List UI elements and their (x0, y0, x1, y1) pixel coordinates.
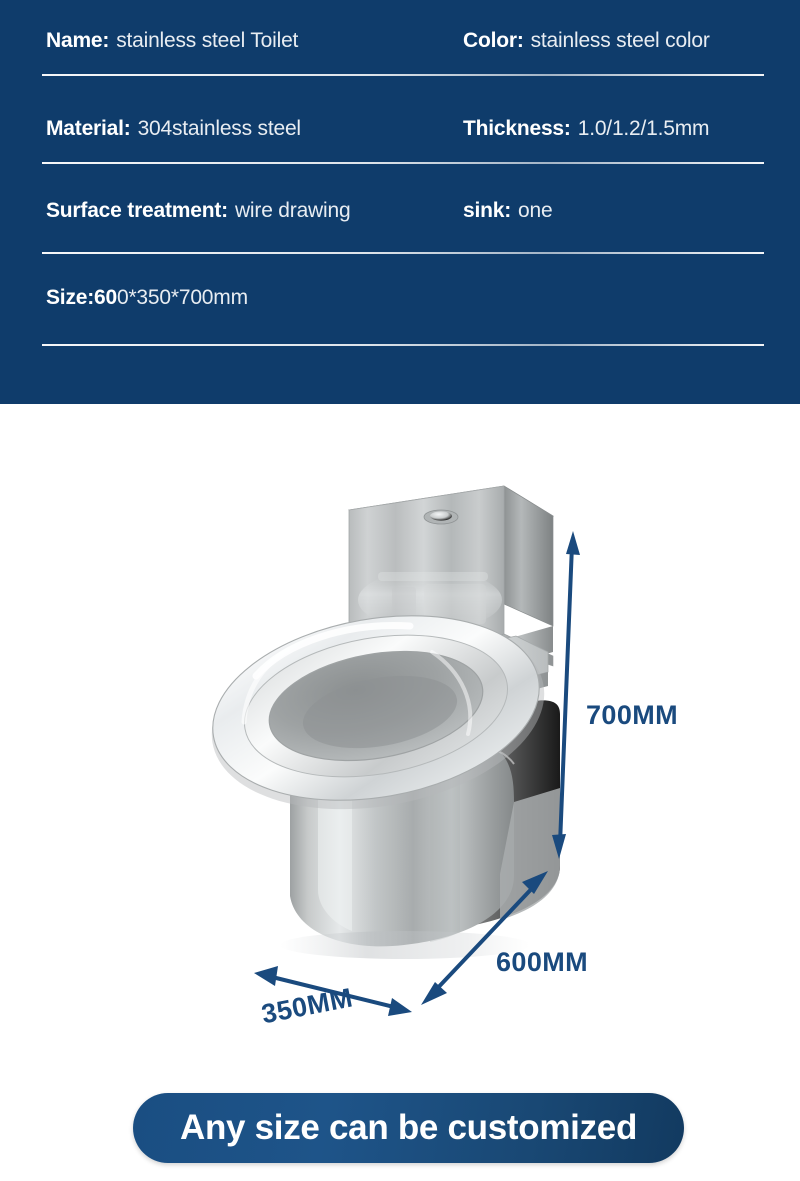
spec-value-name: stainless steel Toilet (116, 29, 298, 52)
spec-value-color: stainless steel color (531, 29, 710, 52)
specification-panel: Name:stainless steel Toilet Color:stainl… (0, 0, 800, 404)
spec-value-size: 0*350*700mm (117, 286, 248, 309)
spec-cell-material: Material:304stainless steel (46, 118, 301, 139)
spec-row: Material:304stainless steel Thickness:1.… (0, 100, 800, 188)
stainless-steel-toilet-illustration (0, 404, 800, 1084)
spec-cell-name: Name:stainless steel Toilet (46, 30, 298, 51)
spec-label-surface-treatment: Surface treatment: (46, 199, 228, 222)
dimension-label-depth: 600MM (496, 947, 588, 978)
product-image-area (0, 404, 800, 1084)
spec-label-size: Size:60 (46, 286, 117, 309)
spec-divider (42, 344, 764, 346)
spec-cell-color: Color:stainless steel color (463, 30, 710, 51)
spec-label-material: Material: (46, 117, 131, 140)
spec-label-thickness: Thickness: (463, 117, 571, 140)
spec-row: Surface treatment:wire drawing sink:one (0, 182, 800, 270)
spec-cell-surface-treatment: Surface treatment:wire drawing (46, 200, 350, 221)
dimension-label-height: 700MM (586, 700, 678, 731)
spec-cell-thickness: Thickness:1.0/1.2/1.5mm (463, 118, 709, 139)
spec-divider (42, 252, 764, 254)
spec-value-thickness: 1.0/1.2/1.5mm (578, 117, 710, 140)
customize-size-button[interactable]: Any size can be customized (133, 1093, 684, 1163)
spec-cell-size: Size:600*350*700mm (46, 287, 248, 308)
spec-label-color: Color: (463, 29, 524, 52)
spec-cell-sink: sink:one (463, 200, 552, 221)
flush-button[interactable] (424, 510, 458, 524)
floor-shadow (280, 931, 530, 959)
spec-divider (42, 74, 764, 76)
spec-row: Name:stainless steel Toilet Color:stainl… (0, 12, 800, 100)
spec-label-name: Name: (46, 29, 109, 52)
spec-divider (42, 162, 764, 164)
spec-value-sink: one (518, 199, 552, 222)
spec-label-sink: sink: (463, 199, 511, 222)
spec-value-surface-treatment: wire drawing (235, 199, 350, 222)
spec-value-material: 304stainless steel (138, 117, 301, 140)
